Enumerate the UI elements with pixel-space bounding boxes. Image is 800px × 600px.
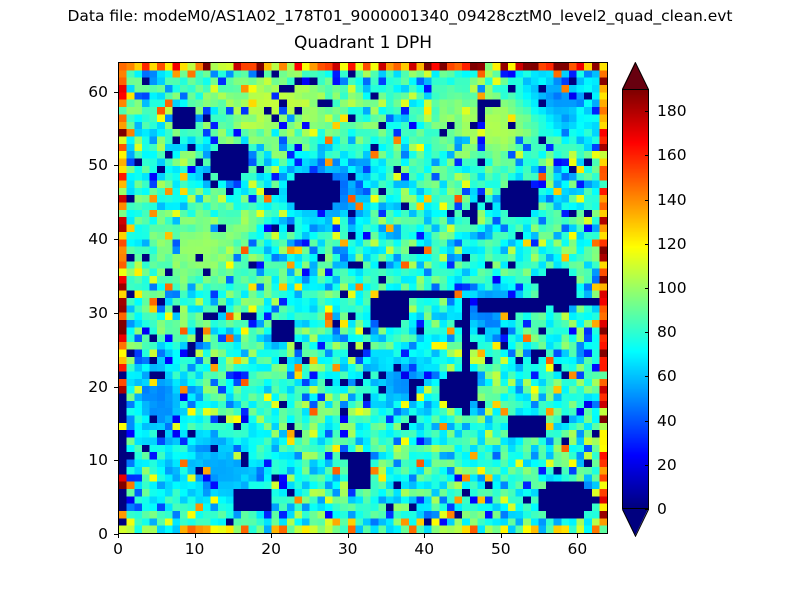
colorbar-tick-mark	[645, 155, 649, 156]
colorbar-under-arrow-outline	[622, 508, 649, 537]
x-tick-mark	[195, 534, 196, 538]
y-tick-label: 30	[46, 305, 108, 321]
colorbar-tick-label: 180	[657, 103, 687, 119]
x-tick-label: 10	[165, 541, 225, 557]
colorbar-tick-mark	[645, 421, 649, 422]
colorbar-tick-label: 140	[657, 192, 687, 208]
colorbar-tick-label: 100	[657, 280, 687, 296]
y-tick-mark	[114, 460, 118, 461]
colorbar-tick-label: 80	[657, 324, 677, 340]
colorbar-tick-mark	[645, 200, 649, 201]
heatmap-axes	[118, 62, 608, 534]
x-tick-mark	[271, 534, 272, 538]
colorbar-tick-label: 60	[657, 368, 677, 384]
colorbar-tick-label: 40	[657, 413, 677, 429]
colorbar-gradient-body	[622, 89, 649, 509]
figure-canvas: Data file: modeM0/AS1A02_178T01_90000013…	[0, 0, 800, 600]
x-tick-label: 30	[318, 541, 378, 557]
colorbar-tick-mark	[645, 111, 649, 112]
colorbar-tick-mark	[645, 332, 649, 333]
x-tick-label: 20	[241, 541, 301, 557]
x-tick-label: 0	[88, 541, 148, 557]
x-tick-mark	[118, 534, 119, 538]
colorbar-tick-mark	[645, 288, 649, 289]
y-tick-label: 20	[46, 379, 108, 395]
y-tick-mark	[114, 239, 118, 240]
y-tick-label: 10	[46, 452, 108, 468]
y-tick-mark	[114, 387, 118, 388]
x-tick-mark	[577, 534, 578, 538]
colorbar-tick-label: 160	[657, 147, 687, 163]
colorbar-tick-mark	[645, 509, 649, 510]
plot-title: Quadrant 1 DPH	[118, 33, 608, 54]
y-tick-label: 60	[46, 84, 108, 100]
y-tick-mark	[114, 92, 118, 93]
colorbar-tick-label: 20	[657, 457, 677, 473]
y-tick-mark	[114, 313, 118, 314]
colorbar-tick-mark	[645, 465, 649, 466]
y-tick-mark	[114, 534, 118, 535]
x-tick-label: 50	[471, 541, 531, 557]
colorbar-over-arrow-outline	[622, 62, 649, 90]
colorbar-tick-mark	[645, 244, 649, 245]
x-tick-mark	[348, 534, 349, 538]
data-file-suptitle: Data file: modeM0/AS1A02_178T01_90000013…	[0, 7, 800, 25]
y-tick-mark	[114, 165, 118, 166]
colorbar-tick-label: 0	[657, 501, 667, 517]
x-tick-label: 60	[547, 541, 607, 557]
x-tick-mark	[424, 534, 425, 538]
colorbar-tick-mark	[645, 376, 649, 377]
x-tick-mark	[501, 534, 502, 538]
colorbar-gradient	[623, 90, 648, 508]
y-tick-label: 50	[46, 157, 108, 173]
y-tick-label: 0	[46, 526, 108, 542]
y-tick-label: 40	[46, 231, 108, 247]
dph-heatmap-image	[119, 63, 607, 533]
colorbar-tick-label: 120	[657, 236, 687, 252]
x-tick-label: 40	[394, 541, 454, 557]
